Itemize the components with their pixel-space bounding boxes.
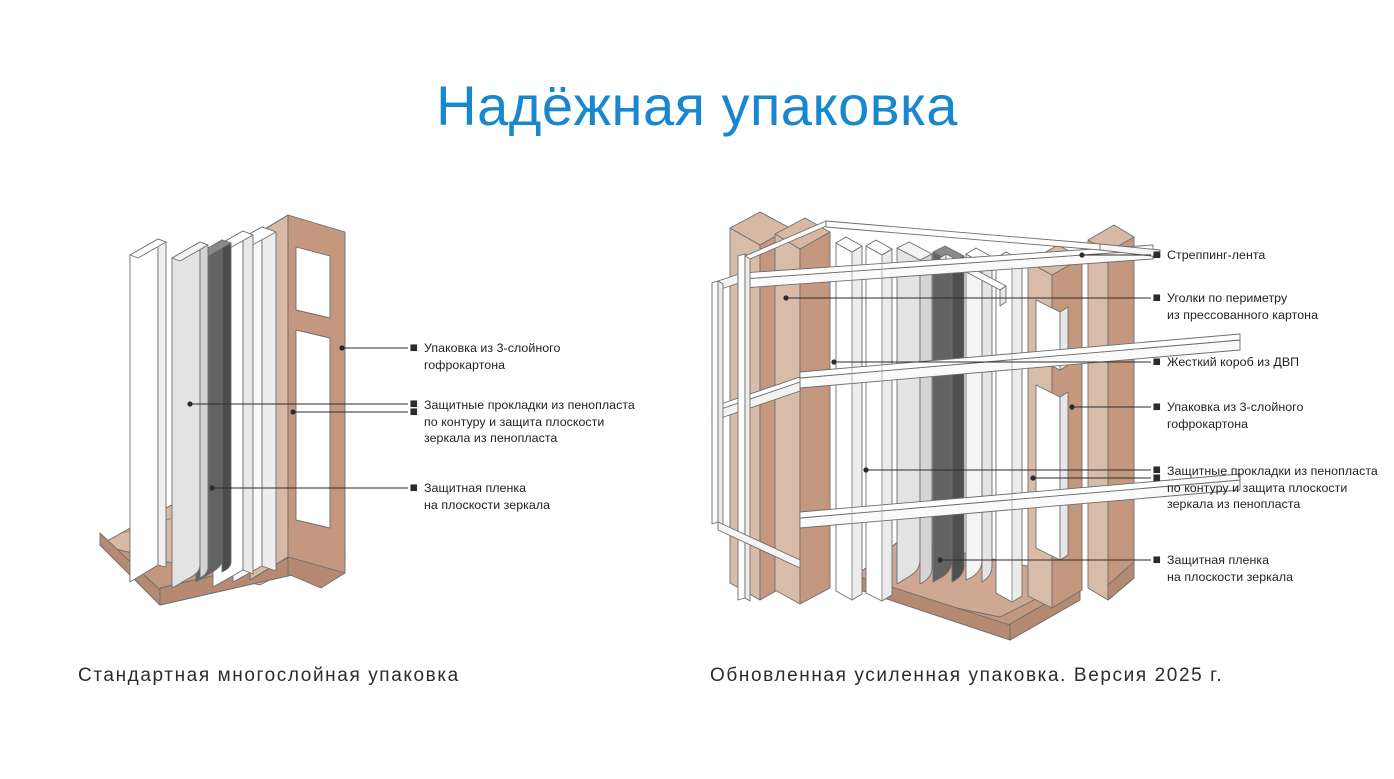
corrugated-panel-left — [775, 218, 830, 604]
foam-window-cutouts — [1036, 300, 1068, 560]
caption-standard-package: Стандартная многослойная упаковка — [78, 664, 460, 688]
base-tray-standard — [100, 497, 345, 605]
corrugated-back-panel — [250, 215, 345, 588]
callout-label-hdf-box: Жесткий короб из ДВП — [1167, 354, 1299, 371]
corner-protectors — [940, 254, 1006, 306]
page-title: Надёжная упаковка — [0, 74, 1394, 138]
callout-label-protective-film-reinforced: Защитная пленка на плоскости зеркала — [1167, 552, 1293, 585]
foam-wall-right — [996, 252, 1022, 602]
outer-sheet — [130, 239, 166, 582]
callout-label-corner-protectors: Уголки по периметру из прессованного кар… — [1167, 290, 1318, 323]
mirror-panel — [196, 240, 231, 582]
base-tray-reinforced — [845, 540, 1080, 640]
mirror-panel-right — [933, 246, 964, 582]
foam-wall-left-inner — [866, 240, 892, 601]
hdf-panel-right-front — [1088, 225, 1134, 600]
caption-reinforced-package: Обновленная усиленная упаковка. Версия 2… — [710, 664, 1223, 688]
foam-wall-left — [836, 237, 862, 600]
callout-label-corrugated-standard: Упаковка из 3-слойного гофрокартона — [424, 340, 560, 373]
callout-label-foam-pads-reinforced: Защитные прокладки из пенопласта по конт… — [1167, 463, 1378, 513]
hdf-panel-left-rear — [730, 212, 790, 600]
leader-lines-reinforced — [783, 252, 1159, 563]
corrugated-panel-right — [1028, 245, 1082, 608]
callout-label-protective-film-standard: Защитная пленка на плоскости зеркала — [424, 480, 550, 513]
callout-label-foam-pads-standard: Защитные прокладки из пенопласта по конт… — [424, 397, 635, 447]
protective-film — [172, 242, 208, 588]
foam-wall-right-inner — [966, 248, 992, 582]
foam-strip — [213, 231, 253, 587]
edge-accents — [852, 252, 1012, 602]
callout-label-strapping-tape: Стреппинг-лента — [1167, 247, 1265, 264]
leader-lines-standard — [187, 345, 416, 491]
protective-film-right — [897, 242, 932, 584]
callout-label-corrugated-reinforced: Упаковка из 3-слойного гофрокартона — [1167, 399, 1303, 432]
foam-frame-outer — [233, 227, 276, 582]
strapping-bands — [712, 221, 1240, 601]
